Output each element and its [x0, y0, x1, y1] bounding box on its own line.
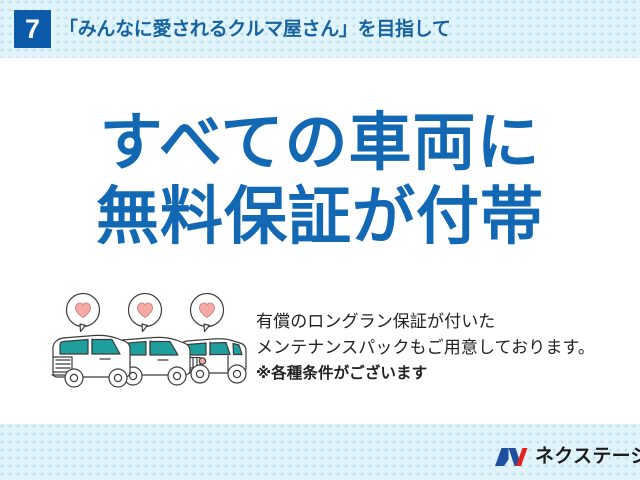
- body-copy-line-2: メンテナンスパックもご用意しております。: [256, 335, 636, 361]
- heart-bubble-right: [191, 294, 224, 332]
- body-copy-note: ※各種条件がございます: [256, 361, 636, 387]
- brand-logo: ネクステージ: [494, 442, 640, 472]
- headline-line-2: 無料保証が付帯: [0, 182, 640, 252]
- brand-name: ネクステージ: [535, 442, 640, 472]
- car-kei-wagon: [52, 335, 130, 387]
- body-copy-line-1: 有償のロングラン保証が付いた: [256, 309, 636, 335]
- heart-bubble-left: [67, 294, 100, 332]
- cars-with-hearts-illustration: [50, 292, 250, 396]
- heart-bubble-center: [129, 294, 162, 332]
- nextage-n-mark: [494, 445, 528, 469]
- header-title: 「みんなに愛されるクルマ屋さん」を目指して: [59, 16, 451, 44]
- body-copy: 有償のロングラン保証が付いた メンテナンスパックもご用意しております。 ※各種条…: [256, 309, 636, 387]
- headline-line-1: すべての車両に: [0, 108, 640, 178]
- promo-slide: 7 「みんなに愛されるクルマ屋さん」を目指して すべての車両に 無料保証が付帯: [0, 0, 640, 480]
- section-number-badge: 7: [14, 10, 51, 48]
